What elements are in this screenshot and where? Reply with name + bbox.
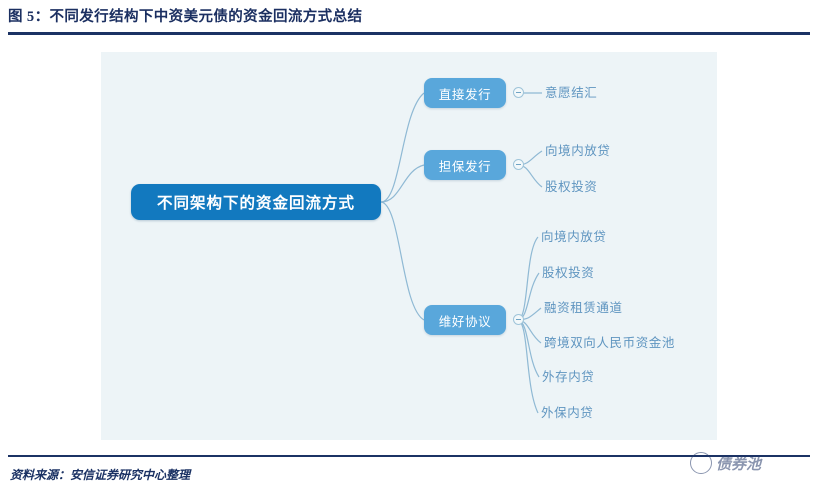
title-divider [8, 32, 810, 35]
mindmap-branch-node-keepwell[interactable]: 维好协议 [424, 305, 506, 335]
mindmap-connectors [101, 52, 717, 440]
mindmap-root-node[interactable]: 不同架构下的资金回流方式 [131, 184, 381, 220]
collapse-toggle-icon[interactable] [513, 314, 524, 325]
source-note: 资料来源：安信证券研究中心整理 [10, 466, 190, 483]
mindmap-branch-label: 担保发行 [439, 156, 491, 175]
mindmap-leaf-label[interactable]: 向境内放贷 [545, 144, 611, 158]
mindmap-branch-label: 直接发行 [439, 84, 491, 103]
figure-title-bar: 图 5：不同发行结构下中资美元债的资金回流方式总结 [8, 6, 810, 34]
collapse-toggle-icon[interactable] [513, 87, 524, 98]
mindmap-branch-node-direct-issue[interactable]: 直接发行 [424, 78, 506, 108]
mindmap-branch-label: 维好协议 [439, 311, 491, 330]
mindmap-panel: 不同架构下的资金回流方式 直接发行 担保发行 维好协议 意愿结汇 向境内放贷 股… [101, 52, 717, 440]
mindmap-root-label: 不同架构下的资金回流方式 [157, 191, 355, 213]
collapse-toggle-icon[interactable] [513, 159, 524, 170]
mindmap-leaf-label[interactable]: 股权投资 [545, 180, 597, 194]
circle-logo-icon [690, 452, 712, 474]
mindmap-branch-node-guaranteed-issue[interactable]: 担保发行 [424, 150, 506, 180]
watermark-label: 债券池 [716, 453, 761, 474]
mindmap-leaf-label[interactable]: 外存内贷 [542, 370, 594, 384]
mindmap-leaf-label[interactable]: 融资租赁通道 [544, 301, 623, 315]
mindmap-leaf-label[interactable]: 股权投资 [542, 266, 594, 280]
mindmap-leaf-label[interactable]: 向境内放贷 [541, 230, 607, 244]
watermark: 债券池 [690, 452, 761, 474]
mindmap-leaf-label[interactable]: 跨境双向人民币资金池 [544, 336, 675, 350]
mindmap-leaf-label[interactable]: 意愿结汇 [545, 86, 597, 100]
page-title: 图 5：不同发行结构下中资美元债的资金回流方式总结 [8, 6, 810, 28]
mindmap-leaf-label[interactable]: 外保内贷 [541, 406, 593, 420]
